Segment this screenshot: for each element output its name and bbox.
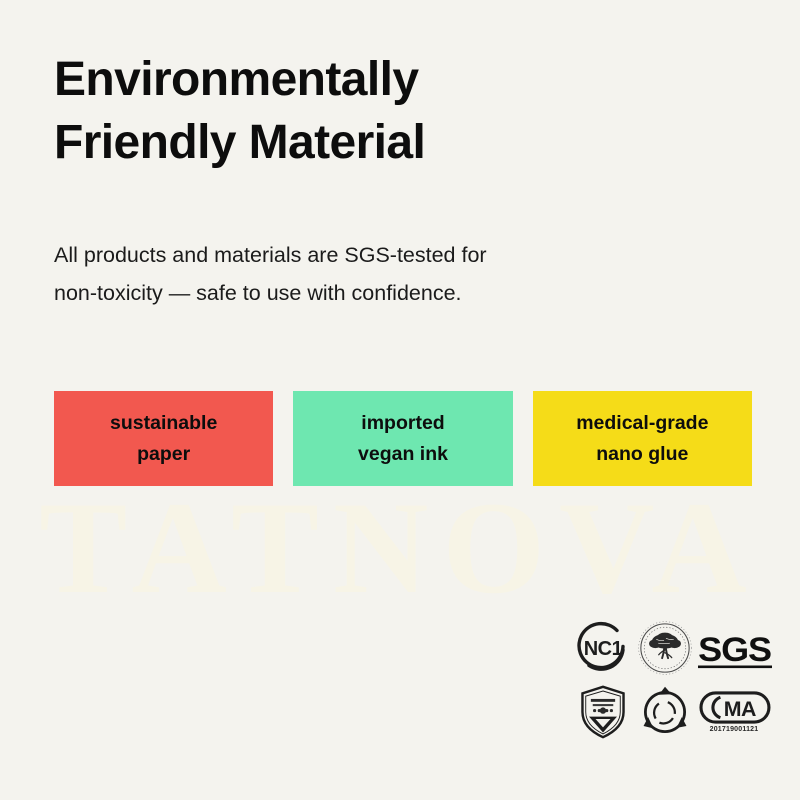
page-subtitle-line-2: non-toxicity — safe to use with confiden… — [54, 274, 674, 312]
sgs-certification-icon: SGS — [696, 619, 772, 677]
svg-text:SGS: SGS — [698, 631, 771, 669]
chip-label-line-2: vegan ink — [358, 439, 448, 469]
svg-text:MA: MA — [724, 697, 756, 721]
chip-label-line-1: medical-grade — [576, 408, 708, 438]
page-title: Environmentally Friendly Material — [54, 48, 714, 175]
chip-label-line-1: imported — [361, 408, 444, 438]
page-title-line-2: Friendly Material — [54, 111, 714, 174]
fsc-tree-seal-icon — [634, 619, 696, 677]
certification-badges: NC1 — [572, 618, 772, 742]
certification-row-bottom: MA 201719001121 — [572, 682, 772, 742]
cma-certification-icon: MA 201719001121 — [696, 681, 772, 743]
nc1-certification-icon: NC1 — [572, 619, 634, 677]
material-chip-list: sustainable paper imported vegan ink med… — [54, 391, 752, 486]
chip-imported-vegan-ink: imported vegan ink — [293, 391, 512, 486]
shield-certification-icon — [572, 681, 634, 743]
chip-label-line-2: nano glue — [596, 439, 688, 469]
poster-canvas: TATNOVA Environmentally Friendly Materia… — [0, 0, 800, 800]
svg-text:NC1: NC1 — [584, 638, 623, 660]
cma-certification-number: 201719001121 — [710, 726, 759, 733]
chip-label-line-1: sustainable — [110, 408, 217, 438]
chip-medical-grade-nano-glue: medical-grade nano glue — [533, 391, 752, 486]
brand-watermark: TATNOVA — [0, 482, 800, 614]
page-title-line-1: Environmentally — [54, 48, 714, 111]
chip-label-line-2: paper — [137, 439, 190, 469]
certification-row-top: NC1 — [572, 618, 772, 678]
page-subtitle-line-1: All products and materials are SGS-teste… — [54, 236, 674, 274]
recycling-icon — [634, 681, 696, 743]
chip-sustainable-paper: sustainable paper — [54, 391, 273, 486]
page-subtitle: All products and materials are SGS-teste… — [54, 236, 674, 313]
